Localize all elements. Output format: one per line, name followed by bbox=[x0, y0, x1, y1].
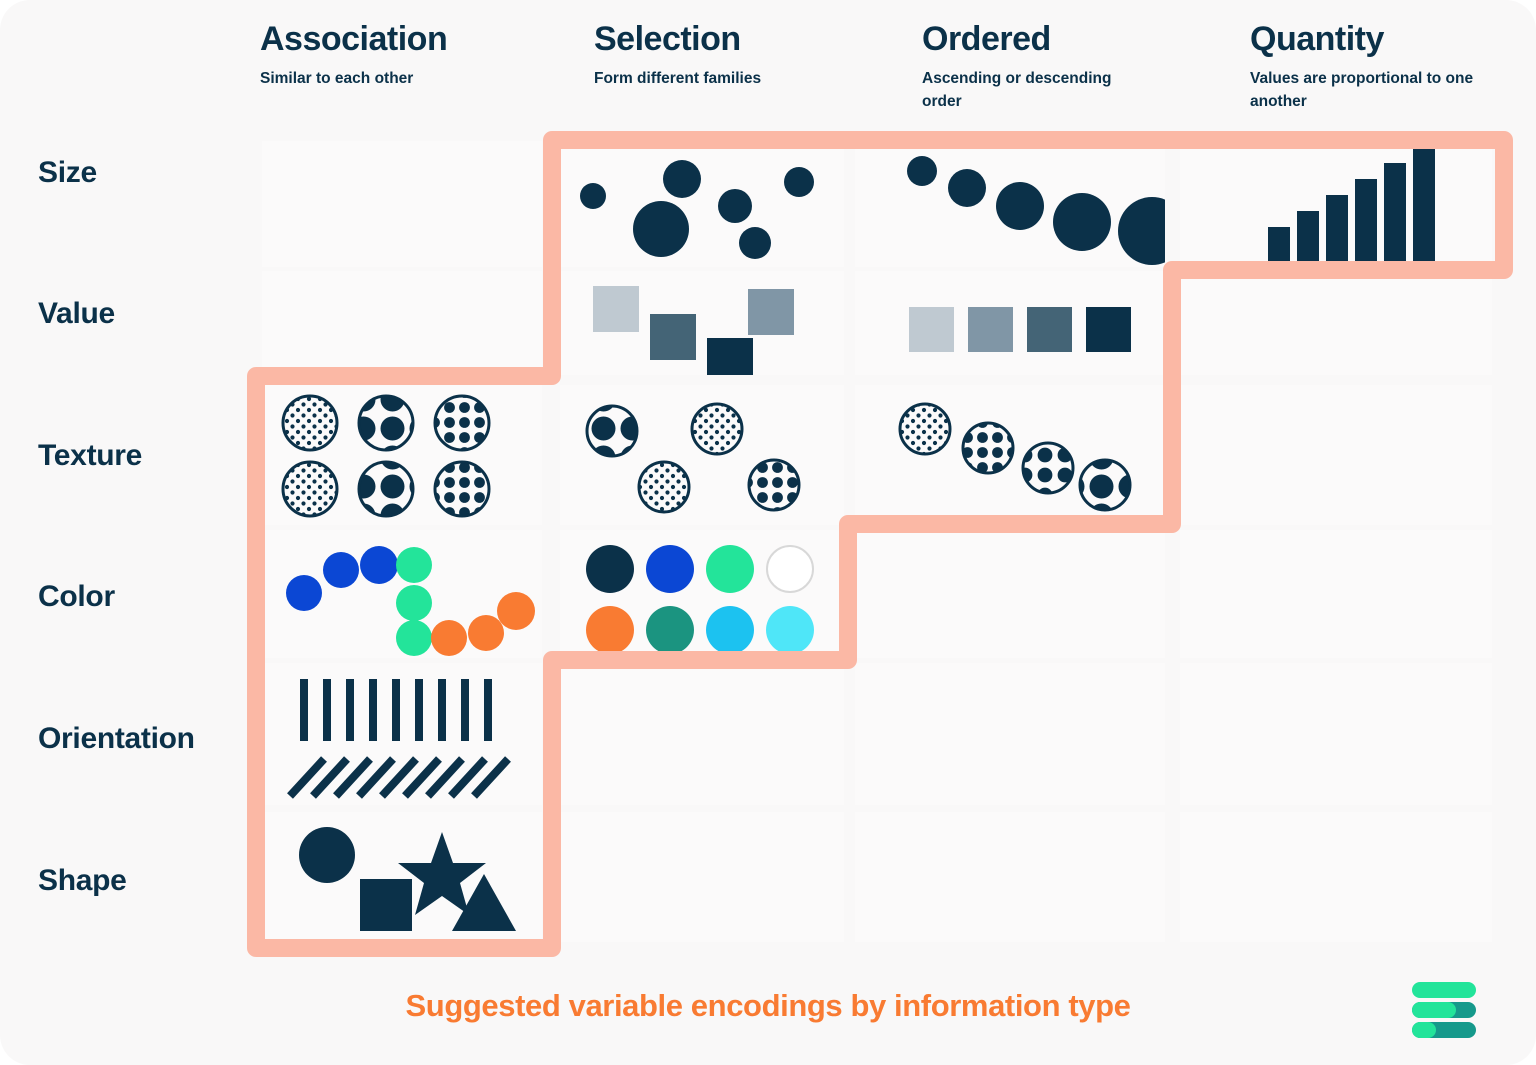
cell-orientation-association bbox=[262, 663, 542, 805]
column-title: Selection bbox=[594, 22, 894, 58]
texture-selection-circles bbox=[560, 385, 844, 525]
cell-color-selection bbox=[560, 530, 844, 658]
texture-association-circles bbox=[262, 385, 542, 525]
column-subtitle: Ascending or descending order bbox=[922, 67, 1152, 114]
square-glyph bbox=[360, 879, 412, 931]
cell-value-ordered bbox=[855, 271, 1165, 375]
page-caption: Suggested variable encodings by informat… bbox=[0, 988, 1536, 1024]
cell-size-selection bbox=[560, 141, 844, 267]
cell-orientation-ordered bbox=[855, 663, 1165, 805]
cell-value-quantity bbox=[1180, 271, 1492, 375]
cell-value-selection bbox=[560, 271, 844, 375]
cell-texture-selection bbox=[560, 385, 844, 525]
texture-ordered-circles bbox=[855, 385, 1165, 525]
brand-logo bbox=[1408, 980, 1480, 1042]
cell-size-ordered bbox=[855, 141, 1165, 267]
cell-color-association bbox=[262, 530, 542, 658]
column-title: Ordered bbox=[922, 22, 1152, 58]
row-label-value: Value bbox=[38, 297, 115, 331]
cell-orientation-selection bbox=[560, 663, 844, 805]
cell-size-association bbox=[262, 141, 542, 267]
quantity-bar-chart bbox=[1180, 141, 1492, 267]
row-label-orientation: Orientation bbox=[38, 722, 195, 756]
cell-texture-ordered bbox=[855, 385, 1165, 525]
column-header-selection: Selection Form different families bbox=[594, 22, 894, 90]
value-ordered-squares bbox=[855, 271, 1165, 375]
row-label-size: Size bbox=[38, 156, 97, 190]
size-ordered-series bbox=[855, 141, 1165, 267]
infographic-page: Association Similar to each other Select… bbox=[0, 0, 1536, 1065]
cell-texture-association bbox=[262, 385, 542, 525]
cell-shape-selection bbox=[560, 812, 844, 942]
row-label-shape: Shape bbox=[38, 864, 127, 898]
column-subtitle: Similar to each other bbox=[260, 67, 560, 90]
color-selection-palette bbox=[560, 530, 844, 658]
column-subtitle: Form different families bbox=[594, 67, 894, 90]
cell-color-ordered bbox=[855, 530, 1165, 658]
column-subtitle: Values are proportional to one another bbox=[1250, 67, 1490, 114]
column-header-ordered: Ordered Ascending or descending order bbox=[922, 22, 1152, 113]
column-title: Quantity bbox=[1250, 22, 1490, 58]
color-association-clusters bbox=[262, 530, 542, 658]
circle-glyph bbox=[299, 827, 355, 883]
column-header-quantity: Quantity Values are proportional to one … bbox=[1250, 22, 1490, 113]
row-label-color: Color bbox=[38, 580, 115, 614]
cell-texture-quantity bbox=[1180, 385, 1492, 525]
cell-shape-quantity bbox=[1180, 812, 1492, 942]
cell-value-association bbox=[262, 271, 542, 375]
size-selection-scatter bbox=[560, 141, 844, 267]
cell-orientation-quantity bbox=[1180, 663, 1492, 805]
row-label-texture: Texture bbox=[38, 439, 142, 473]
cell-shape-ordered bbox=[855, 812, 1165, 942]
cell-color-quantity bbox=[1180, 530, 1492, 658]
cell-shape-association bbox=[262, 812, 542, 942]
orientation-strokes bbox=[262, 663, 542, 805]
shape-glyphs bbox=[262, 812, 542, 942]
three-bar-logo-icon bbox=[1408, 980, 1480, 1042]
cell-size-quantity bbox=[1180, 141, 1492, 267]
column-title: Association bbox=[260, 22, 560, 58]
column-header-association: Association Similar to each other bbox=[260, 22, 560, 90]
value-selection-squares bbox=[560, 271, 844, 375]
